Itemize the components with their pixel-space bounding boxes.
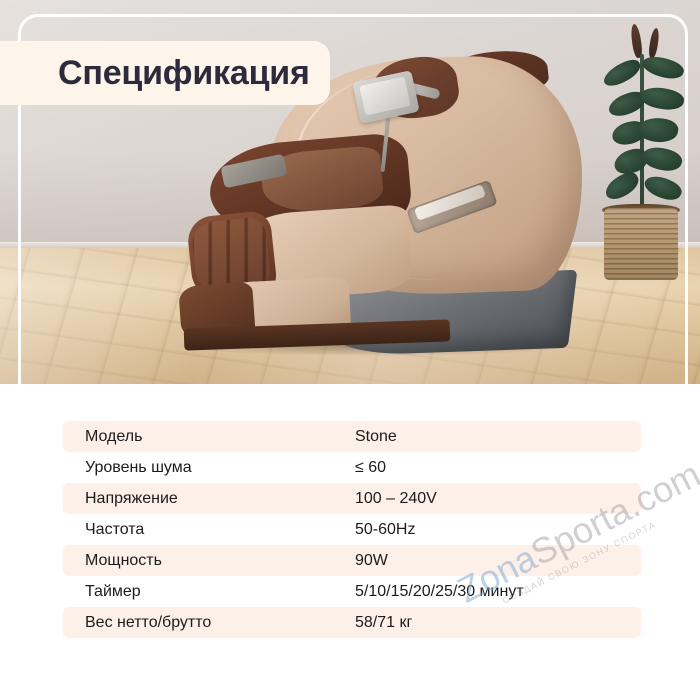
spec-label: Вес нетто/брутто <box>63 614 355 632</box>
spec-label: Уровень шума <box>63 459 355 477</box>
spec-label: Частота <box>63 521 355 539</box>
table-row: Частота 50-60Hz <box>63 514 641 545</box>
plant-leaf <box>642 171 685 205</box>
spec-value: 50-60Hz <box>355 521 415 539</box>
spec-label: Мощность <box>63 552 355 570</box>
page-title: Спецификация <box>58 56 310 90</box>
spec-value: 100 – 240V <box>355 490 437 508</box>
table-row: Модель Stone <box>63 421 641 452</box>
table-row: Мощность 90W <box>63 545 641 576</box>
spec-value: Stone <box>355 428 397 446</box>
title-banner: Спецификация <box>0 41 330 105</box>
potted-plant <box>588 18 700 280</box>
spec-value: ≤ 60 <box>355 459 386 477</box>
table-row: Вес нетто/брутто 58/71 кг <box>63 607 641 638</box>
table-row: Уровень шума ≤ 60 <box>63 452 641 483</box>
plant-leaf <box>640 143 685 175</box>
plant-leaf <box>600 56 644 90</box>
spec-label: Напряжение <box>63 490 355 508</box>
plant-leaf <box>638 84 685 114</box>
spec-value: 90W <box>355 552 388 570</box>
wicker-basket <box>604 208 678 280</box>
plant-bud-secondary-icon <box>648 28 661 59</box>
table-row: Напряжение 100 – 240V <box>63 483 641 514</box>
spec-value: 5/10/15/20/25/30 минут <box>355 583 524 601</box>
plant-leaf <box>601 169 642 204</box>
spec-label: Таймер <box>63 583 355 601</box>
table-row: Таймер 5/10/15/20/25/30 минут <box>63 576 641 607</box>
spec-label: Модель <box>63 428 355 446</box>
plant-leaf <box>640 52 686 83</box>
specification-card: Спецификация Модель Stone Уровень шума ≤… <box>0 0 700 700</box>
spec-value: 58/71 кг <box>355 614 412 632</box>
specification-table: Модель Stone Уровень шума ≤ 60 Напряжени… <box>63 421 641 638</box>
